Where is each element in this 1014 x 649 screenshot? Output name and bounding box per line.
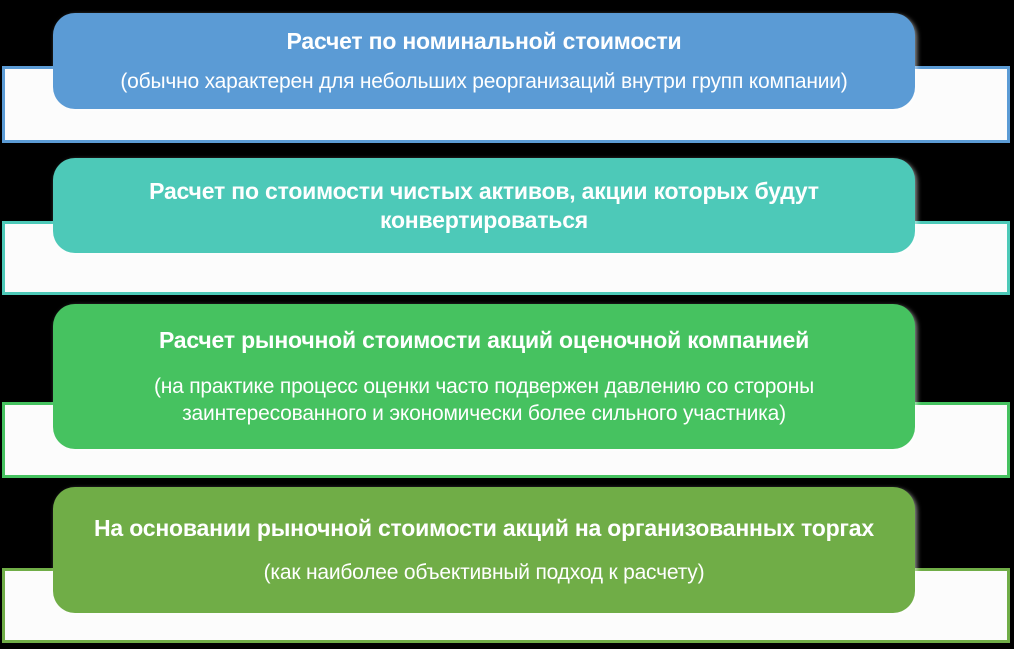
- callout-box-organized-trading-value[interactable]: На основании рыночной стоимости акций на…: [53, 487, 915, 613]
- callout-title-organized-trading-value: На основании рыночной стоимости акций на…: [53, 514, 915, 542]
- callout-subtitle-organized-trading-value: (как наиболее объективный подход к расче…: [53, 560, 915, 587]
- callout-box-net-assets-value[interactable]: Расчет по стоимости чистых активов, акци…: [53, 158, 915, 253]
- callout-box-nominal-value[interactable]: Расчет по номинальной стоимости (обычно …: [53, 13, 915, 109]
- callout-title-appraiser-market-value: Расчет рыночной стоимости акций оценочно…: [53, 326, 915, 354]
- callout-title-nominal-value: Расчет по номинальной стоимости: [53, 27, 915, 55]
- callout-subtitle-appraiser-market-value: (на практике процесс оценки часто подвер…: [53, 374, 915, 428]
- callout-box-appraiser-market-value[interactable]: Расчет рыночной стоимости акций оценочно…: [53, 304, 915, 449]
- callout-diagram: Расчет по номинальной стоимости (обычно …: [0, 0, 1014, 649]
- callout-subtitle-nominal-value: (обычно характерен для небольших реорган…: [53, 69, 915, 96]
- callout-title-net-assets-value: Расчет по стоимости чистых активов, акци…: [53, 177, 915, 233]
